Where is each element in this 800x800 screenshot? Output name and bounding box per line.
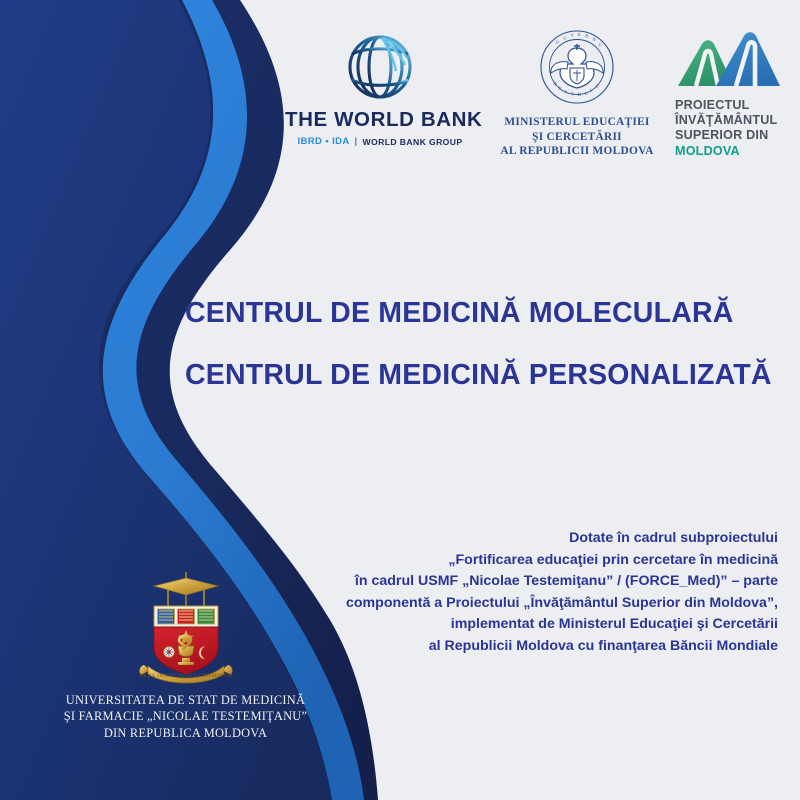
description-line: Dotate în cadrul subproiectului — [18, 528, 778, 550]
world-bank-ibrd-label: IBRD • IDA — [297, 136, 349, 147]
project-moldova-logo: PROIECTUL ÎNVĂŢĂMÂNTUL SUPERIOR DIN MOLD… — [662, 28, 792, 159]
svg-text:I: I — [589, 88, 593, 93]
ministry-logo: G U V E R N U R E P U B L I C — [487, 28, 667, 159]
world-bank-subtitle: IBRD • IDA | WORLD BANK GROUP — [285, 136, 475, 147]
svg-text:L: L — [584, 90, 588, 96]
svg-text:U: U — [597, 42, 603, 48]
usmf-coat-of-arms-icon: ALIIS INSERVIENDO CONSUMOR — [128, 570, 244, 686]
crest-motto: ALIIS INSERVIENDO CONSUMOR — [139, 673, 232, 679]
svg-text:V: V — [570, 32, 575, 38]
globe-icon — [285, 34, 475, 100]
svg-text:U: U — [562, 35, 568, 41]
ministry-name-line2: ŞI CERCETĂRII — [487, 130, 667, 145]
world-bank-group-label: WORLD BANK GROUP — [363, 137, 463, 147]
project-name-line1: PROIECTUL — [675, 98, 792, 113]
university-name-line3: DIN REPUBLICA MOLDOVA — [28, 725, 343, 741]
project-name-line4: MOLDOVA — [675, 144, 792, 159]
title-block: CENTRUL DE MEDICINĂ MOLECULARĂ CENTRUL D… — [185, 296, 800, 392]
project-name-line2: ÎNVĂŢĂMÂNTUL — [675, 113, 792, 128]
world-bank-wordmark: THE WORLD BANK — [285, 108, 475, 132]
crest-wrap: ALIIS INSERVIENDO CONSUMOR — [28, 570, 343, 686]
svg-text:G: G — [555, 38, 561, 44]
ministry-name: MINISTERUL EDUCAŢIEI ŞI CERCETĂRII AL RE… — [487, 115, 667, 159]
svg-text:R: R — [585, 33, 590, 39]
university-name-line2: ŞI FARMACIE „NICOLAE TESTEMIŢANU” — [28, 708, 343, 724]
project-name-line3: SUPERIOR DIN — [675, 128, 792, 143]
poster-canvas: THE WORLD BANK IBRD • IDA | WORLD BANK G… — [0, 0, 800, 800]
world-bank-logo: THE WORLD BANK IBRD • IDA | WORLD BANK G… — [285, 34, 475, 147]
logo-row: THE WORLD BANK IBRD • IDA | WORLD BANK G… — [0, 0, 800, 165]
world-bank-divider: | — [355, 136, 358, 147]
university-name: UNIVERSITATEA DE STAT DE MEDICINĂ ŞI FAR… — [28, 692, 343, 741]
moldova-coat-of-arms-icon: G U V E R N U R E P U B L I C — [487, 28, 667, 106]
page-title-line2: CENTRUL DE MEDICINĂ PERSONALIZATĂ — [185, 358, 800, 392]
university-name-line1: UNIVERSITATEA DE STAT DE MEDICINĂ — [28, 692, 343, 708]
svg-text:B: B — [578, 92, 582, 97]
ministry-name-line1: MINISTERUL EDUCAŢIEI — [487, 115, 667, 130]
mountains-icon — [662, 28, 792, 90]
svg-text:N: N — [592, 36, 598, 42]
university-identity: ALIIS INSERVIENDO CONSUMOR UNIVERSITATEA… — [28, 570, 343, 741]
description-line: „Fortificarea educaţiei prin cercetare î… — [18, 550, 778, 572]
svg-text:E: E — [578, 32, 581, 37]
svg-text:P: P — [564, 89, 568, 95]
ministry-name-line3: AL REPUBLICII MOLDOVA — [487, 144, 667, 159]
project-moldova-name: PROIECTUL ÎNVĂŢĂMÂNTUL SUPERIOR DIN MOLD… — [662, 98, 792, 159]
svg-text:U: U — [571, 91, 576, 96]
page-title-line1: CENTRUL DE MEDICINĂ MOLECULARĂ — [185, 296, 800, 330]
